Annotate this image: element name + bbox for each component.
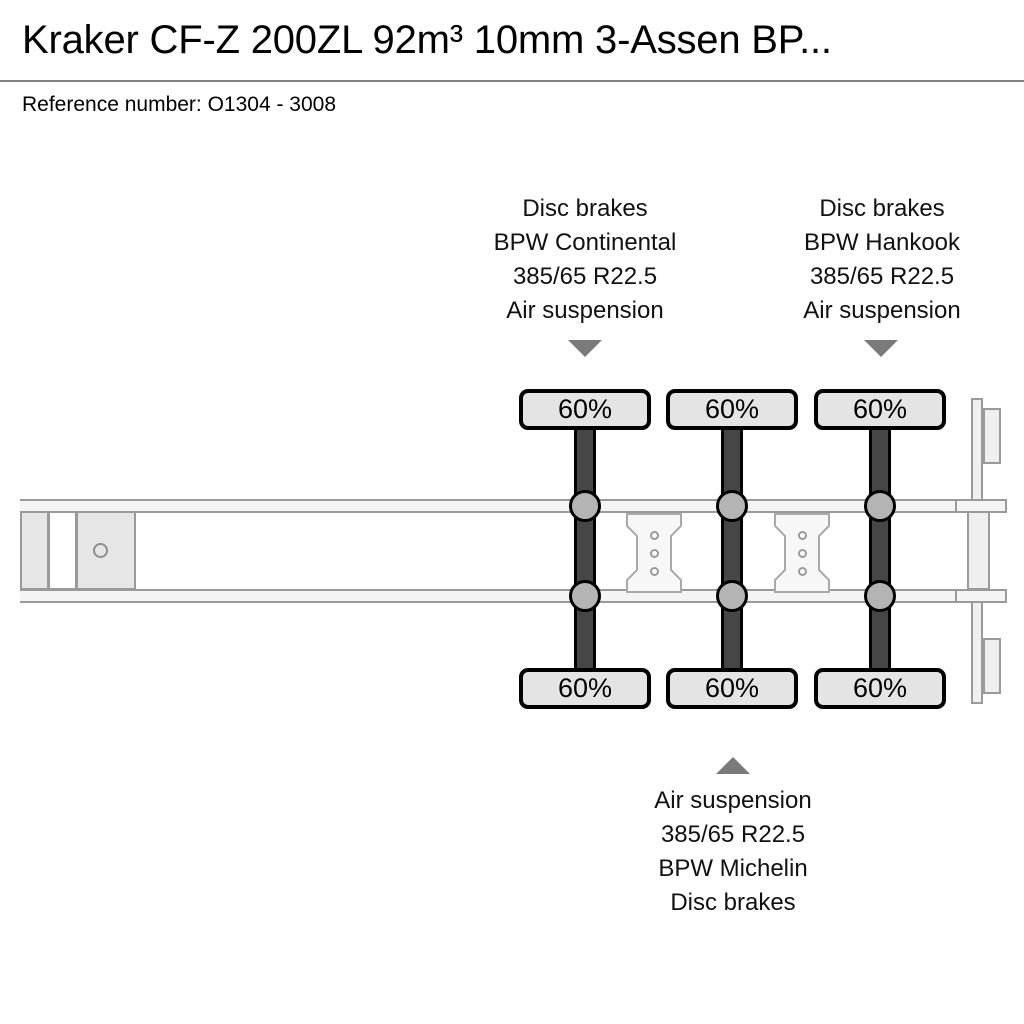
tyre-tread-badge-axle-2-left[interactable]: 60% xyxy=(666,389,798,430)
chassis-rail-bottom xyxy=(20,589,986,603)
tyre-tread-badge-axle-1-left[interactable]: 60% xyxy=(519,389,651,430)
wheel-hub-axle-2-right xyxy=(716,580,748,612)
tyre-tread-value: 60% xyxy=(705,396,759,423)
trailer-axle-diagram: Disc brakes BPW Continental 385/65 R22.5… xyxy=(0,0,1024,1024)
bracket-hole xyxy=(650,531,659,540)
callout-axle-1-line-1: Disc brakes xyxy=(455,192,715,226)
callout-axle-2-line-4: Air suspension xyxy=(752,294,1012,328)
axle-bar-3 xyxy=(869,424,891,679)
wheel-hub-axle-3-right xyxy=(864,580,896,612)
tyre-tread-value: 60% xyxy=(705,675,759,702)
bracket-hole xyxy=(650,549,659,558)
tyre-tread-badge-axle-3-left[interactable]: 60% xyxy=(814,389,946,430)
arrow-down-icon xyxy=(568,340,602,357)
tyre-tread-value: 60% xyxy=(558,675,612,702)
wheel-hub-axle-2-left xyxy=(716,490,748,522)
front-plate-gap xyxy=(48,511,77,590)
callout-axle-1-line-3: 385/65 R22.5 xyxy=(455,260,715,294)
wheel-hub-axle-1-left xyxy=(569,490,601,522)
tyre-tread-badge-axle-1-right[interactable]: 60% xyxy=(519,668,651,709)
callout-axle-2-line-2: BPW Hankook xyxy=(752,226,1012,260)
crossmember-bracket-1 xyxy=(625,512,683,594)
bracket-hole xyxy=(798,549,807,558)
wheel-hub-axle-1-right xyxy=(569,580,601,612)
axle-bar-2 xyxy=(721,424,743,679)
callout-axle-1: Disc brakes BPW Continental 385/65 R22.5… xyxy=(455,192,715,328)
bracket-hole xyxy=(798,531,807,540)
callout-axle-3: Air suspension 385/65 R22.5 BPW Michelin… xyxy=(603,784,863,920)
tyre-tread-badge-axle-2-right[interactable]: 60% xyxy=(666,668,798,709)
rear-lamp-top xyxy=(983,408,1001,464)
crossmember-bracket-2 xyxy=(773,512,831,594)
tyre-tread-badge-axle-3-right[interactable]: 60% xyxy=(814,668,946,709)
callout-axle-2-line-3: 385/65 R22.5 xyxy=(752,260,1012,294)
callout-axle-1-line-2: BPW Continental xyxy=(455,226,715,260)
wheel-hub-axle-3-left xyxy=(864,490,896,522)
tyre-tread-value: 60% xyxy=(853,396,907,423)
chassis-rail-top xyxy=(20,499,986,513)
tyre-tread-value: 60% xyxy=(853,675,907,702)
rear-upright-top xyxy=(971,398,983,501)
callout-axle-3-line-1: Air suspension xyxy=(603,784,863,818)
rear-upright-bottom xyxy=(971,601,983,704)
arrow-down-icon xyxy=(864,340,898,357)
rear-center-post xyxy=(967,511,990,590)
callout-axle-1-line-4: Air suspension xyxy=(455,294,715,328)
kingpin-icon xyxy=(93,543,108,558)
bracket-hole xyxy=(650,567,659,576)
callout-axle-2: Disc brakes BPW Hankook 385/65 R22.5 Air… xyxy=(752,192,1012,328)
tyre-tread-value: 60% xyxy=(558,396,612,423)
arrow-up-icon xyxy=(716,757,750,774)
bracket-hole xyxy=(798,567,807,576)
callout-axle-2-line-1: Disc brakes xyxy=(752,192,1012,226)
axle-bar-1 xyxy=(574,424,596,679)
callout-axle-3-line-2: 385/65 R22.5 xyxy=(603,818,863,852)
rear-lamp-bottom xyxy=(983,638,1001,694)
callout-axle-3-line-3: BPW Michelin xyxy=(603,852,863,886)
callout-axle-3-line-4: Disc brakes xyxy=(603,886,863,920)
front-plate-1 xyxy=(20,511,49,590)
